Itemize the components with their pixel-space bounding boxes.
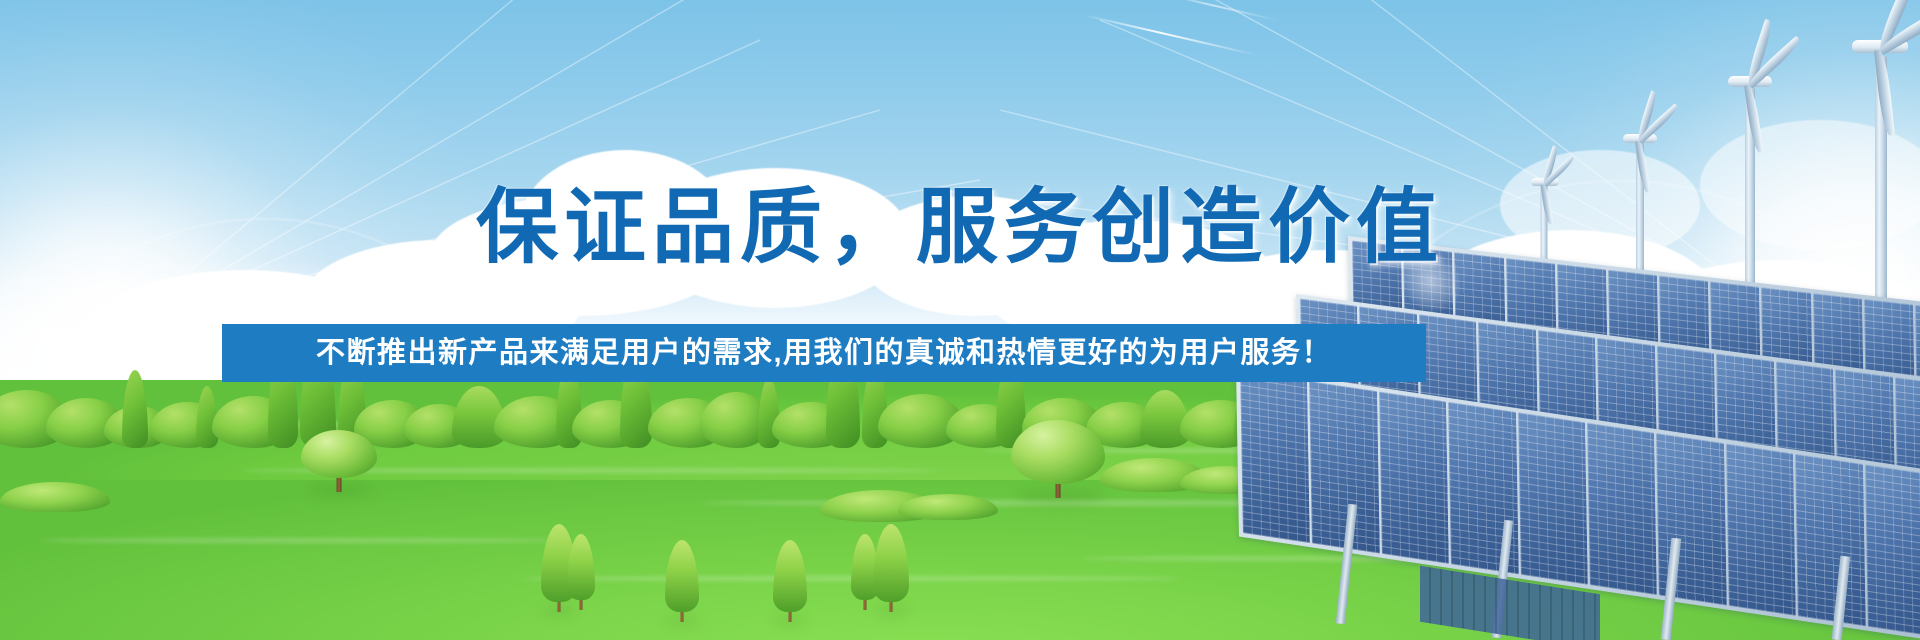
page-title: 保证品质，服务创造价值 xyxy=(0,186,1920,270)
lone-tree-center xyxy=(1010,412,1106,498)
subtitle-bar: 不断推出新产品来满足用户的需求,用我们的真诚和热情更好的为用户服务！ xyxy=(222,324,1426,382)
sapling-6 xyxy=(872,516,910,612)
solar-panel-array xyxy=(1230,220,1920,640)
sapling-3 xyxy=(664,518,700,622)
sapling-2 xyxy=(566,528,596,610)
hero-banner: 保证品质，服务创造价值 不断推出新产品来满足用户的需求,用我们的真诚和热情更好的… xyxy=(0,0,1920,640)
sapling-4 xyxy=(772,518,808,622)
subtitle-text: 不断推出新产品来满足用户的需求,用我们的真诚和热情更好的为用户服务！ xyxy=(316,339,1332,368)
lone-tree-left xyxy=(300,428,378,492)
